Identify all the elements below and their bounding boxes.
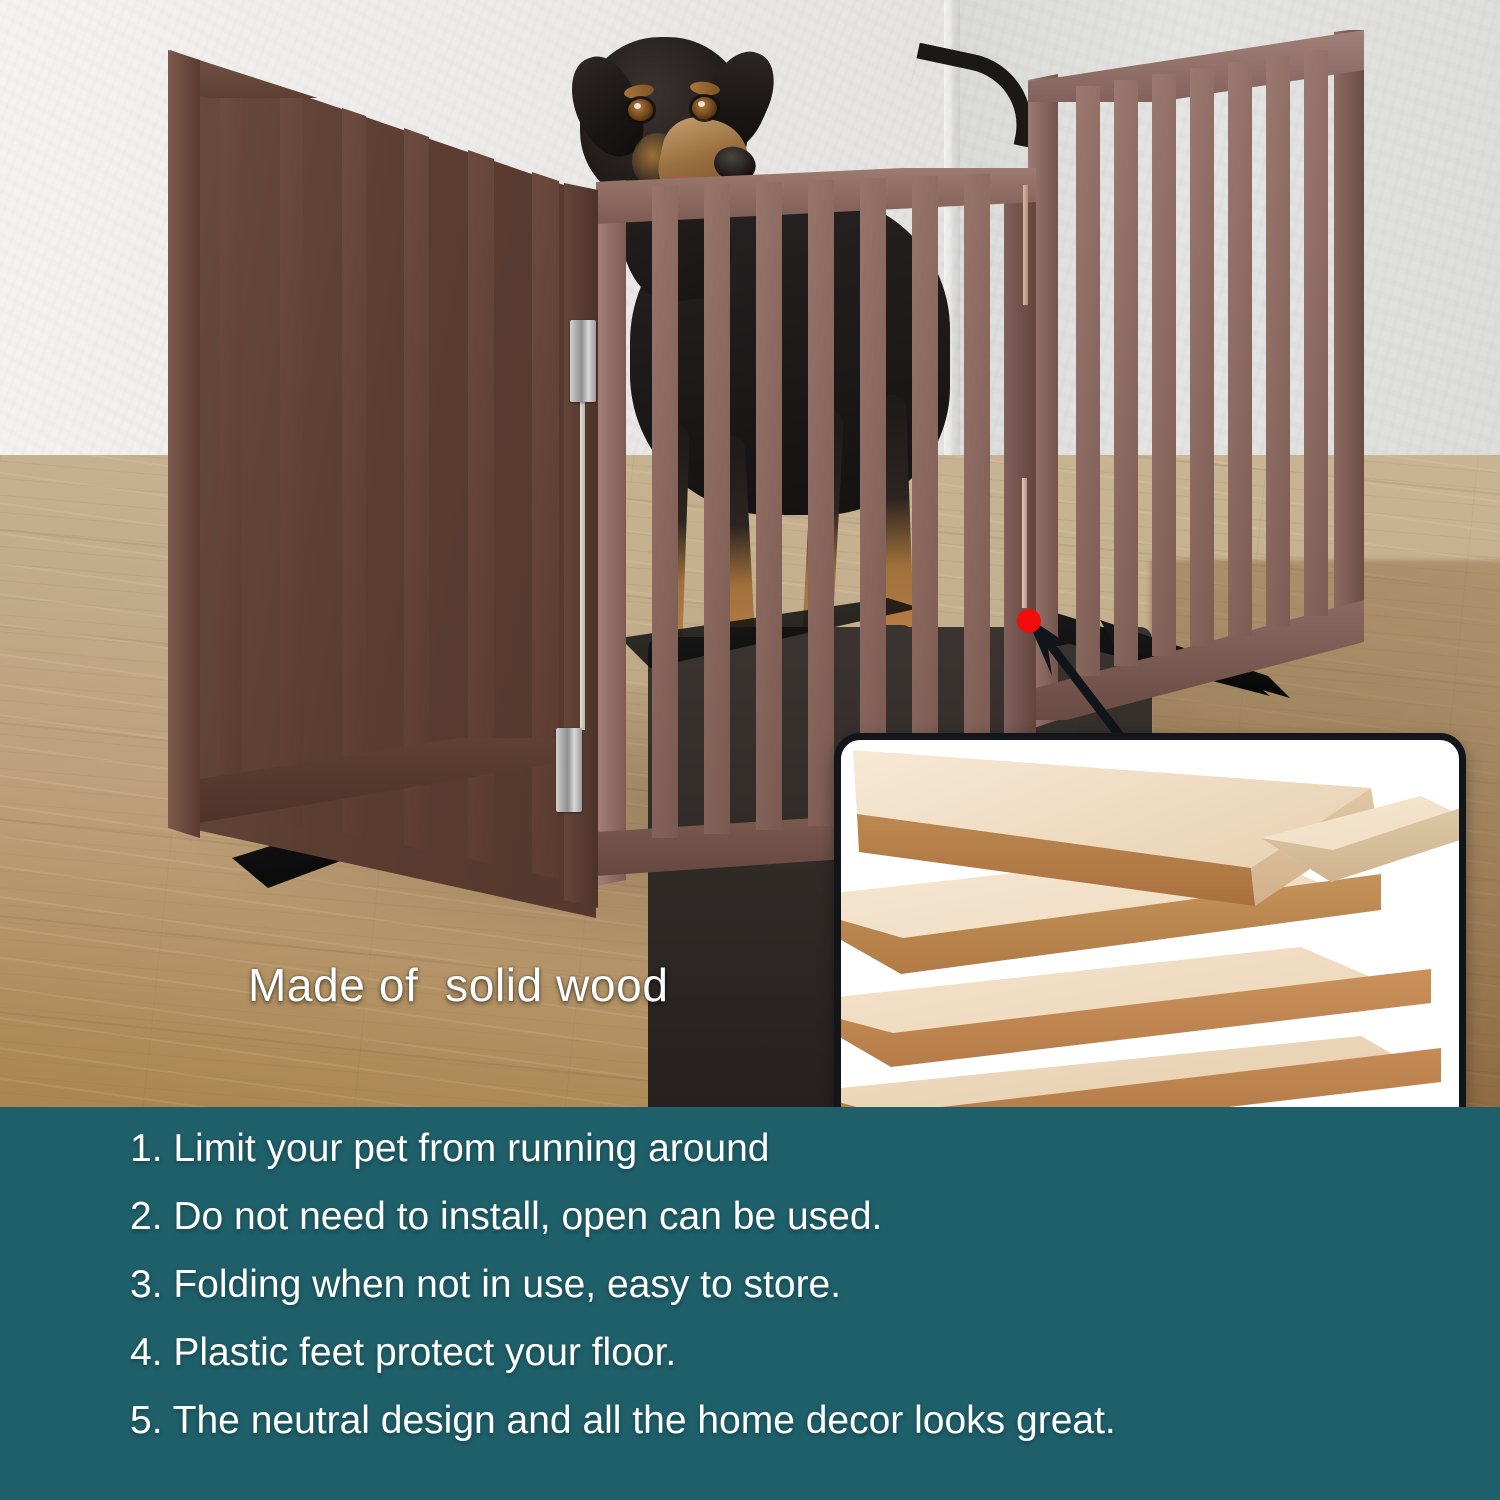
list-item: 4. Plastic feet protect your floor. [130,1333,1450,1372]
gate-slat [1228,62,1252,636]
feature-list: 1. Limit your pet from running around 2.… [130,1129,1450,1469]
panel-post [596,168,626,898]
product-marketing-image: Made of solid wood 1. Limit your pet fro… [0,0,1500,1500]
made-of-solid-wood-caption: Made of solid wood [248,958,669,1012]
list-item: 5. The neutral design and all the home d… [130,1401,1450,1440]
hinge-seam [1023,185,1028,305]
gate-slat [756,182,782,830]
gate-hinge [570,320,596,402]
panel-post [168,38,200,918]
gate-hinge [556,728,582,812]
gate-slat [468,38,494,918]
gate-slat [860,178,886,822]
gate-slat [912,176,938,818]
gate-slat [964,174,990,814]
wood-plank [1261,796,1466,946]
list-item: 1. Limit your pet from running around [130,1129,1450,1168]
list-item: 3. Folding when not in use, easy to stor… [130,1265,1450,1304]
gate-slat [1190,68,1214,646]
gate-slat [1076,86,1100,676]
gate-slat [652,186,678,838]
gate-panel-left [168,38,598,918]
gate-slat [1266,56,1290,626]
solid-wood-planks-photo [834,733,1466,1110]
gate-slat [1304,50,1328,616]
gate-slat [1152,74,1176,656]
feature-list-band: 1. Limit your pet from running around 2.… [0,1107,1500,1500]
room-photo-scene: Made of solid wood [0,0,1500,1110]
list-item: 2. Do not need to install, open can be u… [130,1197,1450,1236]
gate-slat [532,38,559,918]
gate-slat [808,180,834,826]
hinge-seam [580,400,585,730]
gate-slat [704,184,730,834]
hinge-seam [1022,478,1027,608]
panel-top-rail [168,38,598,98]
gate-slat [1114,80,1138,666]
plastic-feet-marker [1017,609,1041,633]
